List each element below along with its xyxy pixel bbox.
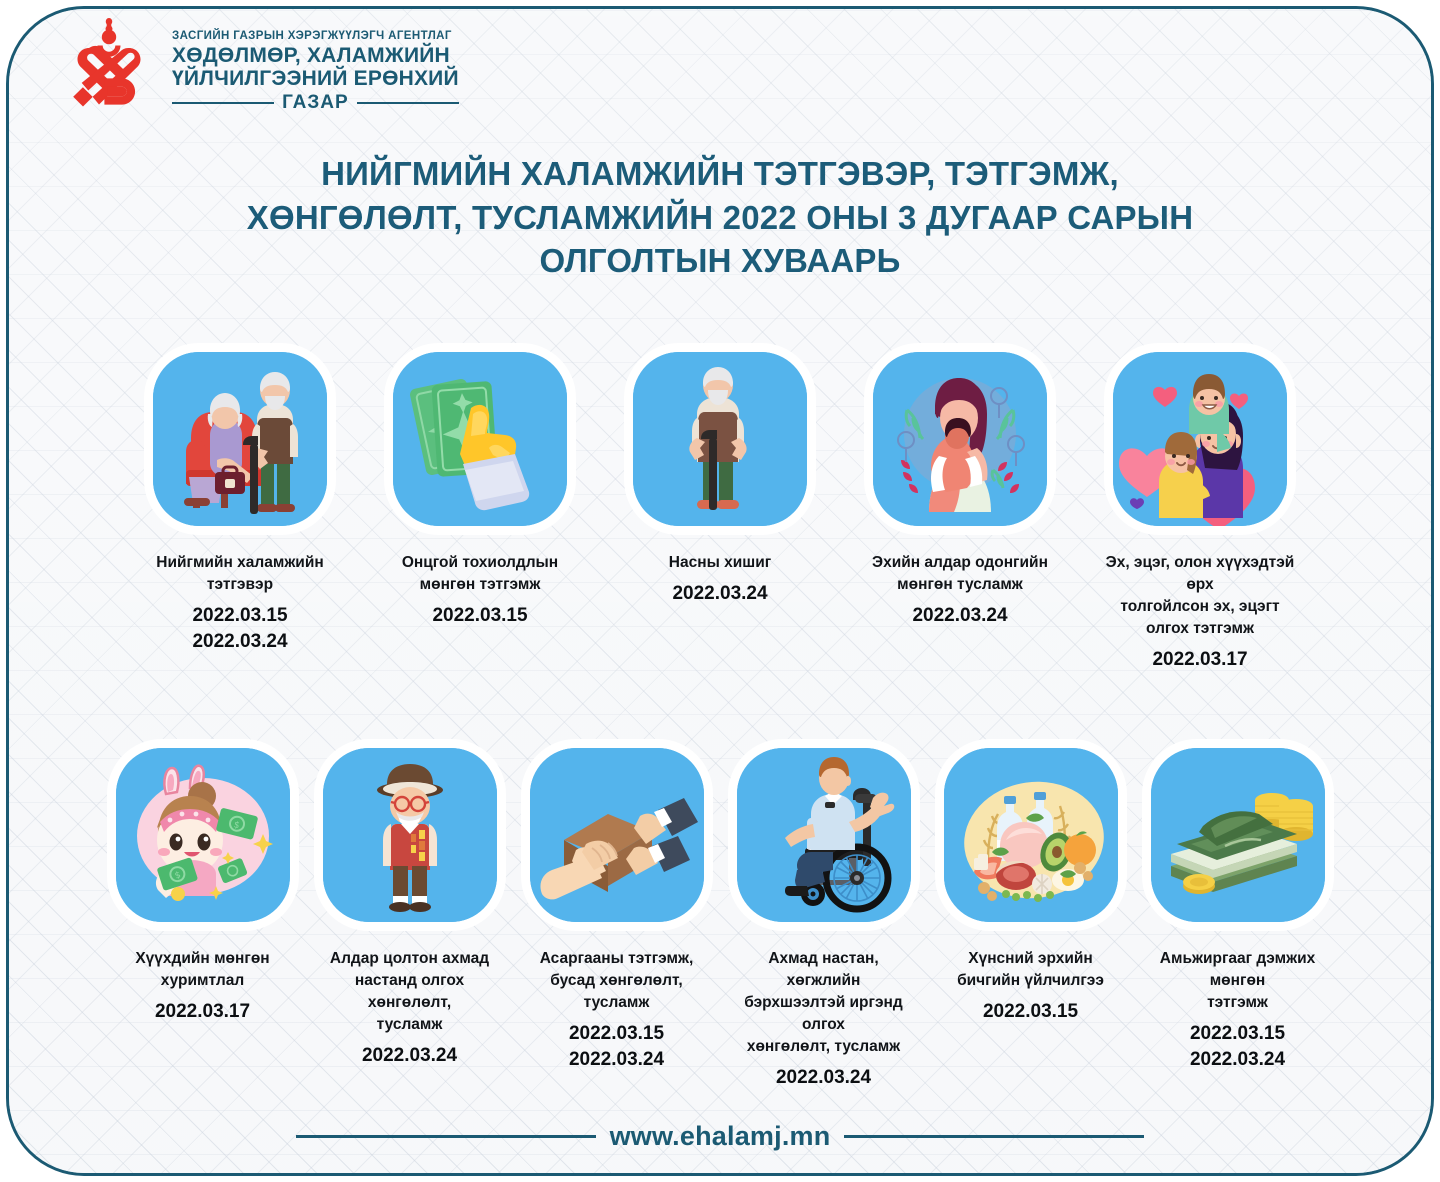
date-line: 2022.03.15 xyxy=(569,1021,664,1047)
caption-line: хөнгөлөлт, тусламж xyxy=(736,1036,911,1058)
organization-logo: ЗАСГИЙН ГАЗРЫН ХЭРЭГЖҮҮЛЭГЧ АГЕНТЛАГ ХӨД… xyxy=(60,14,459,118)
logo-bottom-row: ГАЗАР xyxy=(172,92,459,114)
elderly-man-cane-icon xyxy=(633,352,807,526)
caption-line: тэтгэмж xyxy=(1150,992,1325,1014)
benefit-card[interactable]: Онцгой тохиолдлын мөнгөн тэтгэмж 2022.03… xyxy=(385,352,575,673)
card-dates: 2022.03.15 2022.03.24 xyxy=(1190,1021,1285,1072)
caption-line: Асаргааны тэтгэмж, xyxy=(540,948,694,970)
child-saving-money-icon: $ $ xyxy=(116,748,290,922)
card-caption: Хүнсний эрхийн бичгийн үйлчилгээ xyxy=(957,948,1104,992)
benefit-card-row-1: Нийгмийн халамжийн тэтгэвэр 2022.03.15 2… xyxy=(0,352,1440,673)
date-line: 2022.03.24 xyxy=(569,1047,664,1073)
caption-line: тэтгэвэр xyxy=(156,574,323,596)
date-line: 2022.03.15 xyxy=(192,603,287,629)
card-caption: Эх, эцэг, олон хүүхэдтэй өрх толгойлсон … xyxy=(1105,552,1295,640)
date-line: 2022.03.17 xyxy=(1152,647,1247,673)
date-line: 2022.03.24 xyxy=(776,1065,871,1091)
card-caption: Хүүхдийн мөнгөн хуримтлал xyxy=(135,948,269,992)
caption-line: Хүүхдийн мөнгөн xyxy=(135,948,269,970)
benefit-card-row-2: $ $ xyxy=(0,748,1440,1091)
logo-name-line-2: ҮЙЛЧИЛГЭЭНИЙ ЕРӨНХИЙ xyxy=(172,67,459,90)
benefit-card[interactable]: $ $ xyxy=(115,748,290,1091)
date-line: 2022.03.24 xyxy=(192,629,287,655)
caption-line: хуримтлал xyxy=(135,970,269,992)
footer-divider-right xyxy=(844,1135,1144,1138)
benefit-card[interactable]: Ахмад настан, хөгжлийн бэрхшээлтэй иргэн… xyxy=(736,748,911,1091)
card-dates: 2022.03.17 xyxy=(155,999,250,1025)
infographic-poster: ЗАСГИЙН ГАЗРЫН ХЭРЭГЖҮҮЛЭГЧ АГЕНТЛАГ ХӨД… xyxy=(0,0,1440,1182)
elderly-couple-armchair-icon xyxy=(153,352,327,526)
cash-stack-coins-icon xyxy=(1151,748,1325,922)
benefit-card[interactable]: Амьжиргааг дэмжих мөнгөн тэтгэмж 2022.03… xyxy=(1150,748,1325,1091)
caption-line: мөнгөн тусламж xyxy=(872,574,1048,596)
card-caption: Онцгой тохиолдлын мөнгөн тэтгэмж xyxy=(402,552,558,596)
date-line: 2022.03.15 xyxy=(983,999,1078,1025)
honored-elder-man-icon xyxy=(323,748,497,922)
caption-line: Алдар цолтон ахмад xyxy=(322,948,497,970)
card-caption: Асаргааны тэтгэмж, бусад хөнгөлөлт, тусл… xyxy=(540,948,694,1014)
caption-line: Эх, эцэг, олон хүүхэдтэй өрх xyxy=(1105,552,1295,596)
caption-line: олгох тэтгэмж xyxy=(1105,618,1295,640)
caption-line: тусламж xyxy=(322,1014,497,1036)
caption-line: Эхийн алдар одонгийн xyxy=(872,552,1048,574)
ministry-emblem-icon xyxy=(60,14,158,118)
benefit-card[interactable]: Эхийн алдар одонгийн мөнгөн тусламж 2022… xyxy=(865,352,1055,673)
card-dates: 2022.03.15 xyxy=(432,603,527,629)
caption-line: толгойлсон эх, эцэгт xyxy=(1105,596,1295,618)
caption-line: Амьжиргааг дэмжих мөнгөн xyxy=(1150,948,1325,992)
food-groceries-icon xyxy=(944,748,1118,922)
card-caption: Алдар цолтон ахмад настанд олгох хөнгөлө… xyxy=(322,948,497,1036)
benefit-card[interactable]: Алдар цолтон ахмад настанд олгох хөнгөлө… xyxy=(322,748,497,1091)
caption-line: Хүнсний эрхийн xyxy=(957,948,1104,970)
card-dates: 2022.03.24 xyxy=(776,1065,871,1091)
card-dates: 2022.03.24 xyxy=(672,581,767,607)
benefit-card[interactable]: Эх, эцэг, олон хүүхэдтэй өрх толгойлсон … xyxy=(1105,352,1295,673)
card-dates: 2022.03.24 xyxy=(362,1043,457,1069)
caption-line: Насны хишиг xyxy=(669,552,771,574)
date-line: 2022.03.15 xyxy=(1190,1021,1285,1047)
card-caption: Насны хишиг xyxy=(669,552,771,574)
date-line: 2022.03.17 xyxy=(155,999,250,1025)
logo-text-block: ЗАСГИЙН ГАЗРЫН ХЭРЭГЖҮҮЛЭГЧ АГЕНТЛАГ ХӨД… xyxy=(172,18,459,114)
footer-divider-left xyxy=(296,1135,596,1138)
man-in-wheelchair-icon xyxy=(737,748,911,922)
logo-agency-line: ЗАСГИЙН ГАЗРЫН ХЭРЭГЖҮҮЛЭГЧ АГЕНТЛАГ xyxy=(172,30,459,42)
card-dates: 2022.03.15 2022.03.24 xyxy=(192,603,287,654)
card-caption: Амьжиргааг дэмжих мөнгөн тэтгэмж xyxy=(1150,948,1325,1014)
caption-line: настанд олгох хөнгөлөлт, xyxy=(322,970,497,1014)
caption-line: бэрхшээлтэй иргэнд олгох xyxy=(736,992,911,1036)
caption-line: тусламж xyxy=(540,992,694,1014)
mother-holding-baby-icon xyxy=(873,352,1047,526)
card-caption: Нийгмийн халамжийн тэтгэвэр xyxy=(156,552,323,596)
logo-divider-left xyxy=(172,102,274,104)
card-dates: 2022.03.17 xyxy=(1152,647,1247,673)
title-line-3: ОЛГОЛТЫН ХУВААРЬ xyxy=(150,239,1290,283)
card-dates: 2022.03.24 xyxy=(912,603,1007,629)
title-line-2: ХӨНГӨЛӨЛТ, ТУСЛАМЖИЙН 2022 ОНЫ 3 ДУГААР … xyxy=(150,196,1290,240)
hand-holding-cash-icon xyxy=(393,352,567,526)
website-url[interactable]: www.ehalamj.mn xyxy=(610,1121,831,1152)
date-line: 2022.03.24 xyxy=(1190,1047,1285,1073)
card-dates: 2022.03.15 xyxy=(983,999,1078,1025)
benefit-card[interactable]: Асаргааны тэтгэмж, бусад хөнгөлөлт, тусл… xyxy=(529,748,704,1091)
card-caption: Ахмад настан, хөгжлийн бэрхшээлтэй иргэн… xyxy=(736,948,911,1058)
card-dates: 2022.03.15 2022.03.24 xyxy=(569,1021,664,1072)
caption-line: Ахмад настан, хөгжлийн xyxy=(736,948,911,992)
page-title: НИЙГМИЙН ХАЛАМЖИЙН ТЭТГЭВЭР, ТЭТГЭМЖ, ХӨ… xyxy=(0,152,1440,283)
date-line: 2022.03.24 xyxy=(362,1043,457,1069)
logo-divider-right xyxy=(357,102,459,104)
logo-name-line-1: ХӨДӨЛМӨР, ХАЛАМЖИЙН xyxy=(172,44,459,67)
date-line: 2022.03.24 xyxy=(912,603,1007,629)
family-with-children-hearts-icon xyxy=(1113,352,1287,526)
benefit-card[interactable]: Насны хишиг 2022.03.24 xyxy=(625,352,815,673)
caption-line: бусад хөнгөлөлт, xyxy=(540,970,694,992)
hands-giving-box-icon xyxy=(530,748,704,922)
card-caption: Эхийн алдар одонгийн мөнгөн тусламж xyxy=(872,552,1048,596)
date-line: 2022.03.24 xyxy=(672,581,767,607)
caption-line: бичгийн үйлчилгээ xyxy=(957,970,1104,992)
title-line-1: НИЙГМИЙН ХАЛАМЖИЙН ТЭТГЭВЭР, ТЭТГЭМЖ, xyxy=(150,152,1290,196)
footer: www.ehalamj.mn xyxy=(0,1121,1440,1152)
caption-line: Онцгой тохиолдлын xyxy=(402,552,558,574)
date-line: 2022.03.15 xyxy=(432,603,527,629)
caption-line: мөнгөн тэтгэмж xyxy=(402,574,558,596)
benefit-card[interactable]: Хүнсний эрхийн бичгийн үйлчилгээ 2022.03… xyxy=(943,748,1118,1091)
benefit-card[interactable]: Нийгмийн халамжийн тэтгэвэр 2022.03.15 2… xyxy=(145,352,335,673)
logo-name-line-3: ГАЗАР xyxy=(282,92,349,114)
caption-line: Нийгмийн халамжийн xyxy=(156,552,323,574)
